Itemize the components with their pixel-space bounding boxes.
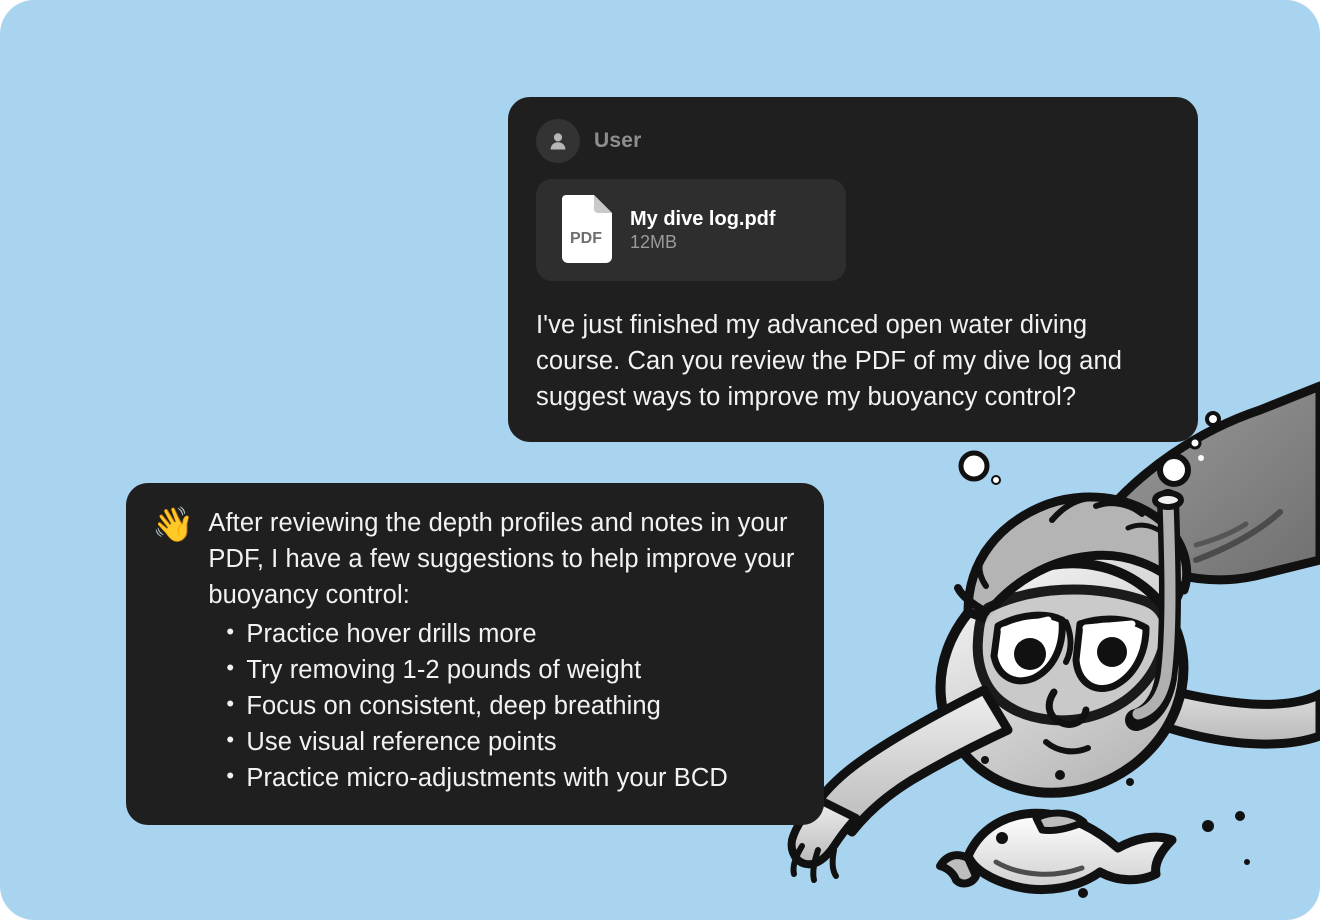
fish-illustration: [940, 813, 1172, 889]
pdf-attachment-meta: My dive log.pdf 12MB: [630, 207, 826, 254]
assistant-message-row: 👋 After reviewing the depth profiles and…: [152, 505, 798, 797]
diver-left-arm: [816, 690, 1008, 832]
bubble-medium-1: [1172, 461, 1176, 465]
diver-mask-glare-left: [1004, 620, 1048, 630]
diver-hair-strand-1: [1052, 498, 1094, 520]
page-root: User PDF My dive log.pdf 12MB I've just …: [0, 0, 1320, 920]
diver-eye-right: [1097, 637, 1127, 667]
diver-finger-1: [793, 846, 802, 874]
diver-finger-2: [813, 850, 818, 880]
bubble-medium-2: [961, 453, 987, 479]
bubble-small-2: [1207, 413, 1219, 425]
list-item: Use visual reference points: [246, 724, 798, 760]
user-message-header: User: [536, 119, 1170, 163]
fish-body: [968, 813, 1172, 889]
diver-torso: [1000, 512, 1186, 678]
diver-figure: [792, 386, 1320, 880]
air-bubbles: [961, 389, 1250, 898]
diver-mask-lens-left: [994, 615, 1062, 681]
diver-mouth: [1046, 742, 1088, 751]
diver-finger-3: [833, 850, 836, 876]
assistant-suggestion-list: Practice hover drills more Try removing …: [208, 616, 798, 797]
diver-wetsuit-cuff: [1102, 522, 1186, 572]
diver-hair: [968, 497, 1187, 618]
list-item: Practice micro-adjustments with your BCD: [246, 760, 798, 796]
list-item: Practice hover drills more: [246, 616, 798, 652]
diver-eye-left: [1014, 638, 1046, 670]
user-avatar-icon: [536, 119, 580, 163]
bubble-large-1: [1160, 456, 1188, 484]
bubble-small-1: [1190, 438, 1200, 448]
bubble-tiny-4: [1055, 770, 1065, 780]
bubble-tiny-9: [1078, 888, 1088, 898]
diver-mask-strap: [958, 588, 986, 612]
diver-wetsuit-crease-2: [1196, 524, 1246, 545]
diver-hair-strand-3: [1128, 525, 1166, 536]
assistant-message-body: After reviewing the depth profiles and n…: [208, 505, 798, 797]
diver-snorkel-opening: [1155, 493, 1181, 507]
diver-mask-bridge: [1066, 622, 1071, 662]
bubble-tiny-6: [1126, 778, 1134, 786]
diver-snorkel-tube: [1136, 500, 1170, 720]
bubble-tiny-8: [1235, 811, 1245, 821]
fish-fin-top: [1036, 813, 1084, 830]
waving-hand-emoji: 👋: [152, 507, 194, 544]
fish-belly-line: [996, 862, 1082, 874]
diver-wetsuit-crease-1: [1196, 512, 1280, 560]
diver-mask-glare-right: [1086, 624, 1132, 628]
diver-nose: [1049, 692, 1086, 724]
bubble-tiny-10: [1244, 859, 1250, 865]
list-item: Try removing 1-2 pounds of weight: [246, 652, 798, 688]
diver-hair-strand-2: [1096, 503, 1142, 514]
diver-right-arm: [1082, 664, 1320, 744]
bubble-tiny-5: [981, 756, 989, 764]
bubble-large-2: [1169, 463, 1175, 469]
diver-collarbone: [1026, 600, 1096, 622]
pdf-file-icon: PDF: [556, 195, 612, 265]
diver-snorkel-fill: [1138, 502, 1170, 714]
diver-mask-lens-right: [1076, 619, 1146, 688]
assistant-message-bubble: 👋 After reviewing the depth profiles and…: [126, 483, 824, 825]
user-message-text: I've just finished my advanced open wate…: [536, 307, 1170, 416]
bubble-tiny-2: [1198, 455, 1204, 461]
diver-mask: [978, 590, 1166, 721]
pdf-icon-label: PDF: [570, 230, 602, 247]
bubble-tiny-3: [992, 476, 1000, 484]
diver-neck: [962, 626, 1086, 730]
pdf-attachment-card[interactable]: PDF My dive log.pdf 12MB: [536, 179, 846, 281]
diver-head: [900, 521, 1224, 835]
fish-eye: [996, 832, 1008, 844]
assistant-intro-text: After reviewing the depth profiles and n…: [208, 505, 798, 614]
fish-tail: [940, 855, 976, 883]
list-item: Focus on consistent, deep breathing: [246, 688, 798, 724]
pdf-file-name: My dive log.pdf: [630, 208, 776, 230]
pdf-file-size: 12MB: [630, 232, 677, 252]
user-message-bubble: User PDF My dive log.pdf 12MB I've just …: [508, 97, 1198, 442]
user-sender-name: User: [594, 129, 642, 153]
bubble-tiny-7: [1202, 820, 1214, 832]
diver-hair-tuft: [979, 546, 988, 586]
